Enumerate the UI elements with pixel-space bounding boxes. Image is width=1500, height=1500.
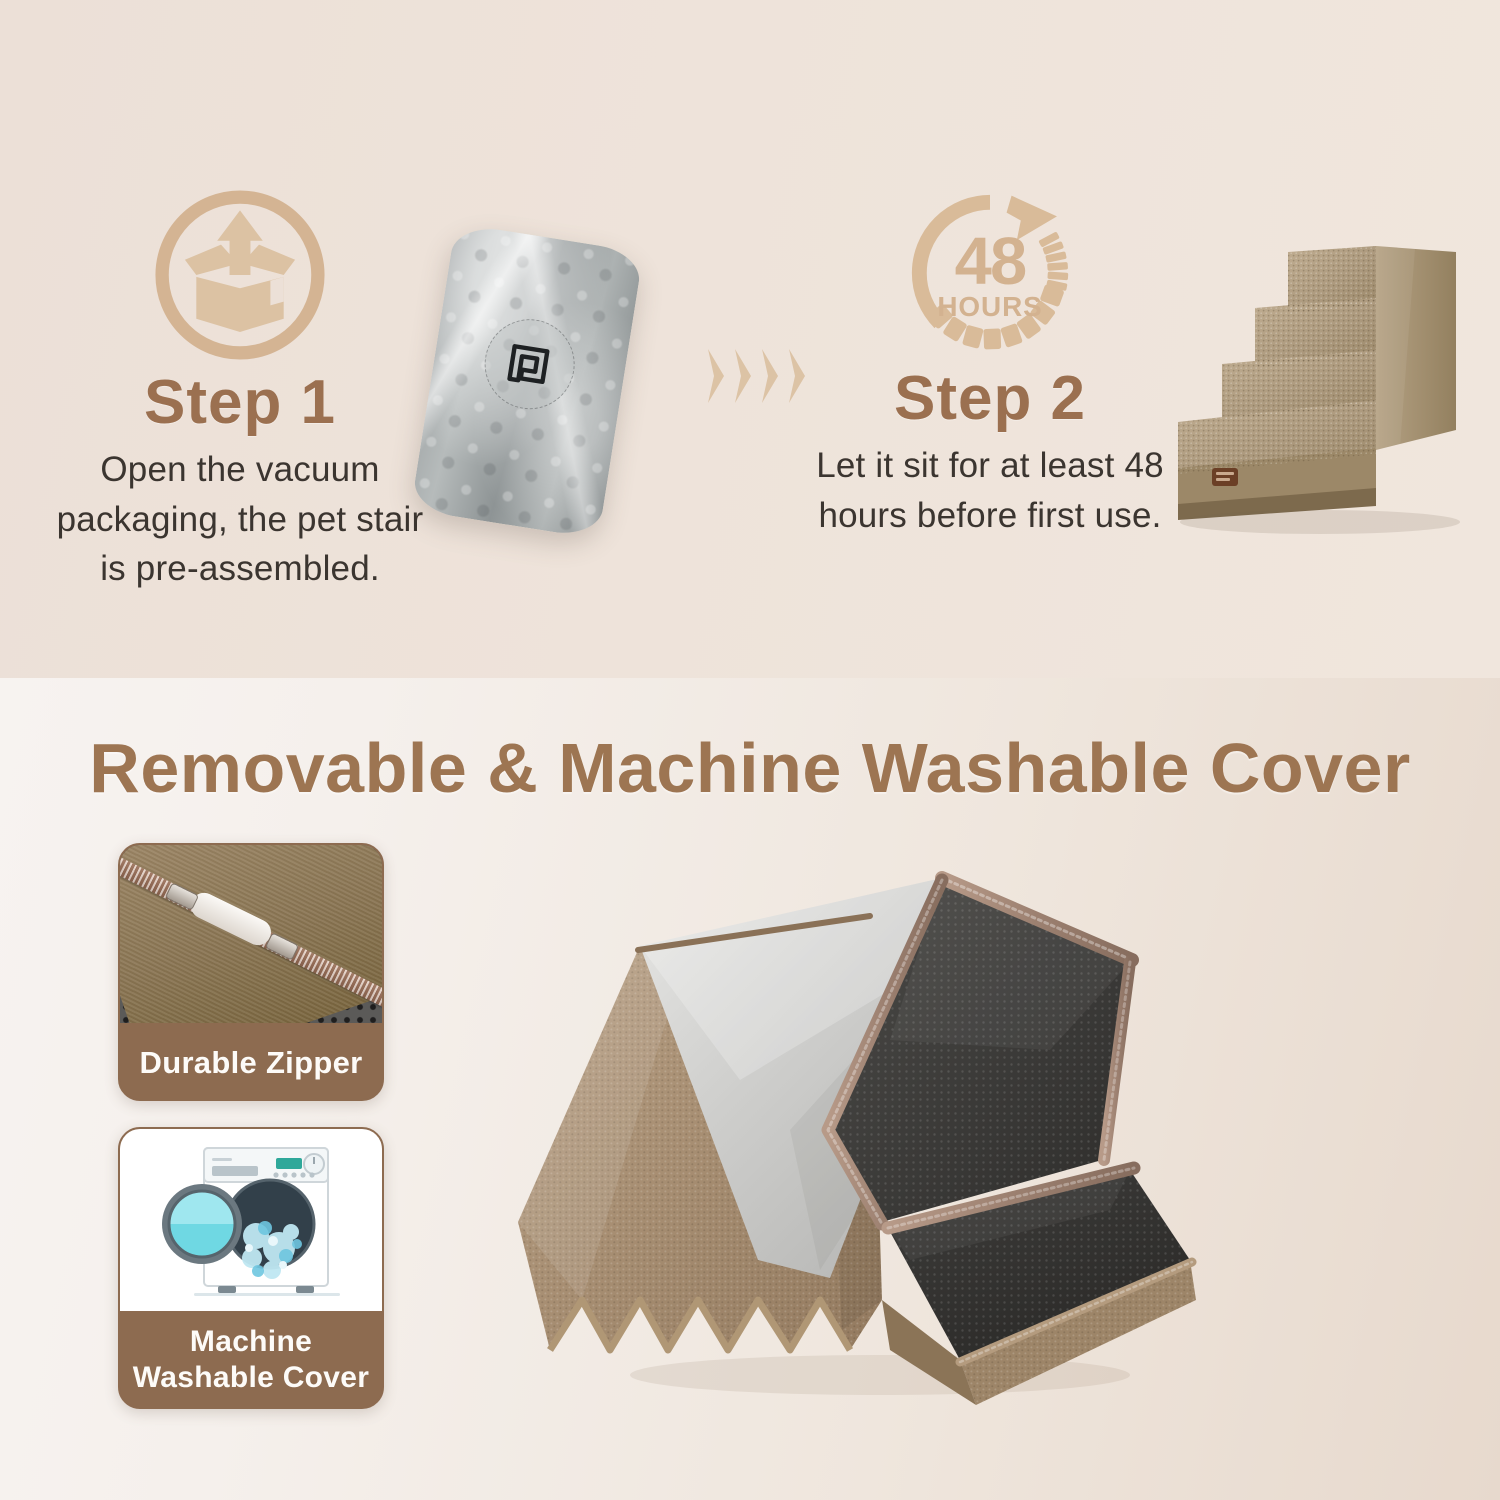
feature-card-durable-zipper: Durable Zipper: [118, 843, 384, 1101]
48-hours-clock-icon: 48 HOURS: [790, 180, 1190, 366]
product-brand-tag-icon: [1212, 468, 1238, 486]
step-1-block: Step 1 Open the vacuum packaging, the pe…: [40, 180, 440, 594]
infographic-page: Step 1 Open the vacuum packaging, the pe…: [0, 0, 1500, 1500]
washable-cover-panel: Removable & Machine Washable Cover Durab…: [0, 678, 1500, 1500]
step-2-block: 48 HOURS Step 2 Let it sit for at least …: [790, 180, 1190, 540]
card-label-durable-zipper: Durable Zipper: [120, 1023, 382, 1101]
card-label-line-2: Washable Cover: [133, 1361, 370, 1394]
card-label-line-1: Machine: [190, 1325, 312, 1358]
card-label-machine-washable: Machine Washable Cover: [120, 1311, 382, 1409]
hero-product-photo: [490, 830, 1230, 1430]
feature-card-machine-washable: Machine Washable Cover: [118, 1127, 384, 1409]
step-2-description: Let it sit for at least 48 hours before …: [790, 441, 1190, 540]
step-2-title: Step 2: [790, 366, 1190, 431]
pet-stairs-product-image: [1160, 222, 1490, 552]
zipper-closeup-photo: [120, 845, 382, 1023]
page-headline: Removable & Machine Washable Cover: [0, 728, 1500, 808]
48-hours-icon-number: 48: [955, 224, 1026, 299]
vacuum-packed-roll-image: [410, 223, 643, 539]
washing-machine-illustration: [120, 1129, 382, 1311]
steps-panel: Step 1 Open the vacuum packaging, the pe…: [0, 0, 1500, 678]
48-hours-icon-unit: HOURS: [937, 291, 1042, 322]
open-box-arrow-icon: [40, 180, 440, 370]
step-1-description: Open the vacuum packaging, the pet stair…: [40, 445, 440, 594]
step-1-title: Step 1: [40, 370, 440, 435]
